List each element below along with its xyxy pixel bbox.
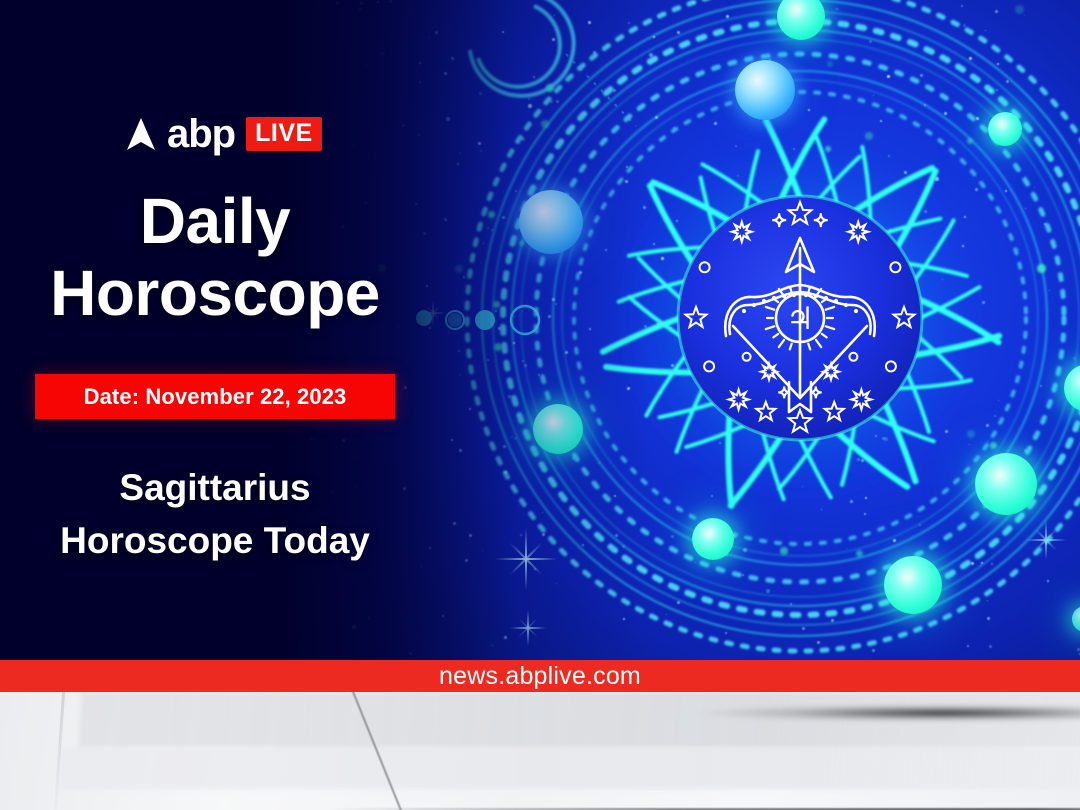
subtitle: Sagittarius Horoscope Today [10,462,420,567]
planet-orb-lower-right [975,453,1037,515]
blurred-band-lower [59,747,1080,789]
svg-text:♃: ♃ [786,301,814,337]
page-title: Daily Horoscope [10,186,420,329]
subtitle-line-2: Horoscope Today [10,515,420,568]
abp-arrow-logo-icon [126,117,156,151]
headline-line-2: Horoscope [10,258,420,330]
subtitle-line-1: Sagittarius [10,462,420,515]
planet-orb-bottom-right [884,556,942,614]
abp-wordmark: abp [167,114,235,154]
planet-orb-left [519,190,583,254]
headline-line-1: Daily [10,186,420,258]
zodiac-artwork: ♃ abp LIVE Daily Horoscope [0,0,1080,660]
planet-orb-upper [735,60,795,120]
horoscope-graphic-page: ♃ abp LIVE Daily Horoscope [0,0,1080,810]
date-banner: Date: November 22, 2023 [35,374,395,419]
planet-orb-bottom [692,518,734,560]
blurred-dark-smudge [700,704,1080,722]
website-url-text: news.abplive.com [439,662,641,691]
background-page-beneath [0,692,1080,810]
abp-live-logo[interactable]: abp LIVE [126,114,322,154]
planet-orb-lower-left [533,404,583,454]
website-url-bar[interactable]: news.abplive.com [0,660,1080,692]
crescent-moon-icon [470,0,574,96]
date-banner-text: Date: November 22, 2023 [84,384,347,410]
planet-orb-upper-right [988,112,1022,146]
live-badge: LIVE [246,117,322,150]
